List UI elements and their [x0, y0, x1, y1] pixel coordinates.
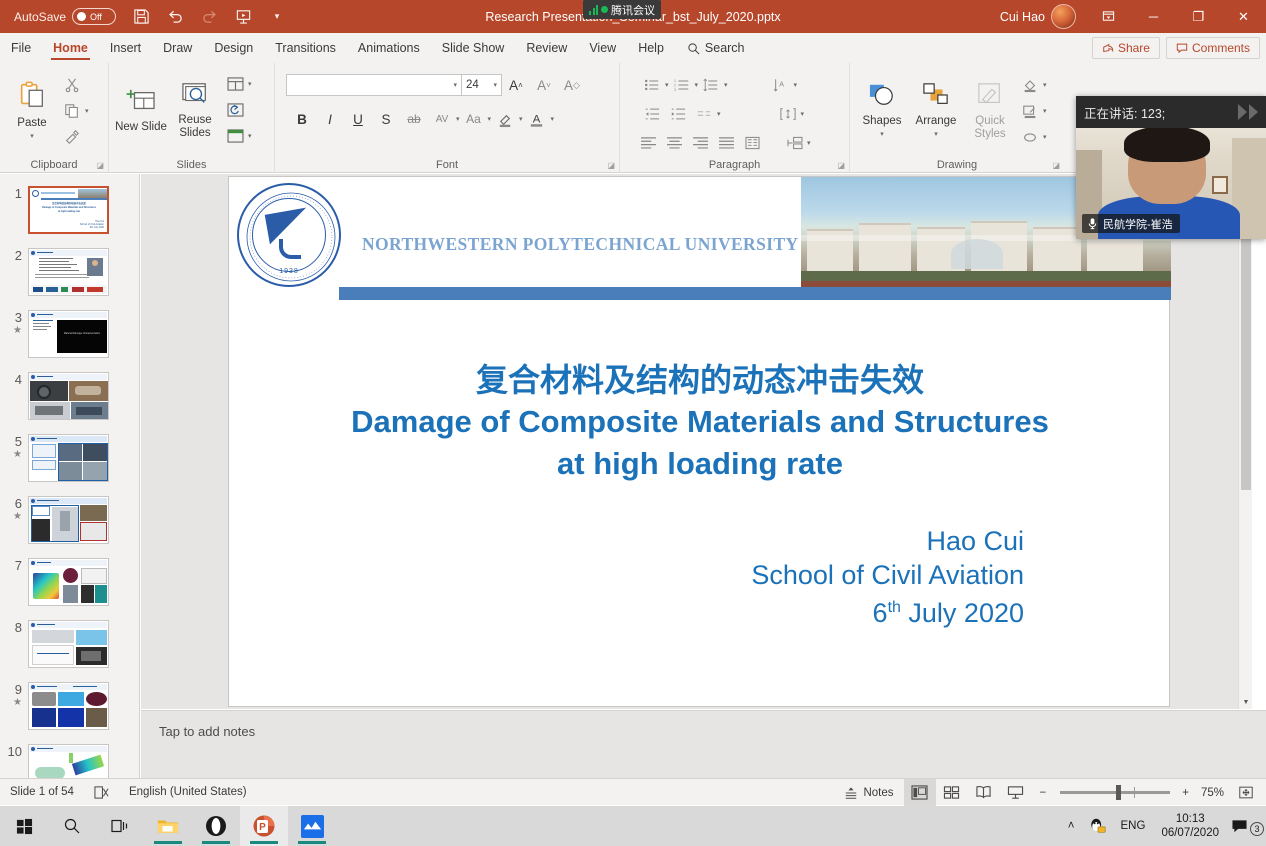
font-name-input[interactable]: ▾ — [286, 74, 462, 96]
notification-count: 3 — [1250, 822, 1264, 836]
accessibility-check-icon[interactable] — [84, 779, 119, 806]
comments-button[interactable]: Comments — [1166, 37, 1260, 59]
video-feed[interactable]: 民航学院-崔浩 — [1076, 128, 1266, 239]
thumbnail-image[interactable] — [28, 682, 109, 730]
slide-counter[interactable]: Slide 1 of 54 — [0, 779, 84, 806]
thumbnail-image[interactable] — [28, 248, 109, 296]
thumbnail-7[interactable]: 7 — [0, 558, 140, 606]
scroll-down-icon[interactable]: ▼ — [1239, 695, 1253, 709]
signal-bars-icon — [589, 5, 598, 15]
zoom-default-tick — [1134, 787, 1135, 798]
thumbnail-image[interactable] — [28, 372, 109, 420]
tab-slide-show[interactable]: Slide Show — [431, 33, 516, 63]
strikethrough-button[interactable]: ab — [400, 106, 428, 132]
copy-dropdown-icon[interactable]: ▾ — [85, 107, 89, 115]
tab-transitions[interactable]: Transitions — [264, 33, 347, 63]
text-box-fit-dropdown-icon[interactable]: ▾ — [801, 110, 805, 118]
svg-text:2: 2 — [674, 83, 676, 87]
tab-view[interactable]: View — [578, 33, 627, 63]
zoom-level[interactable]: 75% — [1195, 779, 1230, 806]
date-ordinal-suffix: th — [888, 599, 901, 616]
current-slide[interactable]: 1938 NORTHWESTERN POLYTECHNICAL UNIVERSI… — [228, 176, 1170, 707]
slide-canvas-area: 1938 NORTHWESTERN POLYTECHNICAL UNIVERSI… — [141, 174, 1252, 709]
reset-icon — [227, 103, 244, 117]
change-case-button[interactable]: Aa — [460, 106, 488, 132]
slides-group-label: Slides — [109, 159, 274, 171]
reuse-slides-icon — [180, 81, 210, 111]
line-spacing-button[interactable] — [698, 72, 724, 98]
text-fit-icon — [780, 107, 796, 121]
slide-author-block[interactable]: Hao Cui School of Civil Aviation 6th Jul… — [504, 527, 1024, 633]
paragraph-dialog-launcher-icon[interactable]: ◪ — [837, 161, 845, 170]
shape-fill-icon — [1022, 78, 1038, 93]
tencent-meeting-icon[interactable] — [288, 806, 336, 846]
slide-title-english-1: Damage of Composite Materials and Struct… — [269, 401, 1131, 443]
clipboard-dialog-launcher-icon[interactable]: ◪ — [96, 161, 104, 170]
powerpoint-window: AutoSave Off ▾ Research Presentation_Sem… — [0, 0, 1266, 846]
comments-label: Comments — [1192, 41, 1250, 55]
tab-insert[interactable]: Insert — [99, 33, 152, 63]
smartart-dropdown-icon[interactable]: ▾ — [807, 139, 811, 147]
thumbnail-number: 6 — [0, 496, 22, 511]
clock-date: 06/07/2020 — [1161, 826, 1219, 840]
text-box-fit-button[interactable] — [775, 101, 801, 127]
slide-header-band: 1938 NORTHWESTERN POLYTECHNICAL UNIVERSI… — [229, 177, 1171, 297]
arrange-label: Arrange — [916, 115, 957, 128]
slide-thumbnail-pane[interactable]: 1 复合材料及结构的动态冲击失效 Damage of Composite Mat… — [0, 174, 140, 778]
keyboard-language[interactable]: ENG — [1113, 813, 1154, 840]
windows-taskbar: P ˄ ENG 10:13 06/07/2020 3 — [0, 806, 1266, 846]
italic-button[interactable]: I — [316, 106, 344, 132]
thumbnail-number: 3 — [0, 310, 22, 325]
tab-review[interactable]: Review — [515, 33, 578, 63]
logo-year: 1938 — [239, 268, 339, 275]
ribbon-group-clipboard: Paste ▾ ▾ — [0, 63, 108, 173]
text-shadow-button[interactable]: S — [372, 106, 400, 132]
participant-hair — [1124, 128, 1210, 162]
share-group: Share Comments — [1092, 37, 1260, 59]
logo-hook-shape — [279, 239, 301, 259]
columns-button[interactable] — [739, 130, 765, 156]
align-center-icon — [666, 136, 683, 150]
font-size-value: 24 — [466, 79, 479, 91]
thumbnail-number: 2 — [0, 248, 22, 263]
shape-outline-button[interactable] — [1017, 98, 1043, 124]
animation-star-icon: ★ — [0, 449, 22, 460]
paste-icon — [17, 80, 47, 114]
font-color-button[interactable]: A — [523, 106, 551, 132]
ribbon-tab-strip: File Home Insert Draw Design Transitions… — [0, 33, 1266, 63]
format-painter-button[interactable] — [59, 124, 85, 150]
slide-title[interactable]: 复合材料及结构的动态冲击失效 Damage of Composite Mater… — [269, 359, 1131, 485]
author-affiliation: School of Civil Aviation — [504, 561, 1024, 590]
thumbnail-number: 10 — [0, 744, 22, 759]
fit-slide-icon — [1238, 785, 1254, 800]
shape-effects-dropdown-icon[interactable]: ▾ — [1043, 133, 1047, 141]
zoom-out-button[interactable]: − — [1032, 779, 1051, 806]
save-icon[interactable] — [124, 0, 158, 33]
drawing-dialog-launcher-icon[interactable]: ◪ — [1052, 161, 1060, 170]
close-button[interactable]: ✕ — [1221, 0, 1266, 33]
text-direction-dropdown-icon[interactable]: ▾ — [794, 81, 798, 89]
thumbnail-number: 4 — [0, 372, 22, 387]
bullets-icon — [644, 78, 660, 92]
increase-font-size-button[interactable]: A˄ — [502, 72, 530, 98]
cut-button[interactable] — [59, 72, 85, 98]
align-left-icon — [640, 136, 657, 150]
copy-icon — [64, 103, 80, 119]
increase-indent-icon — [670, 107, 686, 121]
powerpoint-icon[interactable]: P — [240, 806, 288, 846]
status-dot-icon — [601, 6, 608, 13]
wall-picture-frame — [1212, 176, 1228, 194]
text-direction-button[interactable]: A — [768, 72, 794, 98]
layout-icon — [227, 77, 244, 91]
microphone-icon — [1086, 217, 1099, 230]
logo-emblem — [252, 198, 326, 272]
decrease-indent-button[interactable] — [639, 101, 665, 127]
share-label: Share — [1118, 41, 1150, 55]
reset-button[interactable] — [222, 97, 248, 123]
svg-text:A: A — [533, 113, 541, 125]
shape-outline-dropdown-icon[interactable]: ▾ — [1043, 107, 1047, 115]
thumbnail-number: 1 — [0, 186, 22, 201]
search-label: Search — [705, 41, 745, 55]
reuse-slides-button[interactable]: Reuse Slides — [168, 75, 222, 140]
tencent-meeting-label: 腾讯会议 — [611, 2, 655, 18]
autosave-state: Off — [90, 12, 102, 22]
slide-show-icon — [1007, 785, 1024, 800]
start-presentation-icon[interactable] — [226, 0, 260, 33]
text-direction-icon: A — [773, 78, 789, 92]
autosave-label: AutoSave — [14, 10, 66, 24]
increase-indent-button[interactable] — [665, 101, 691, 127]
align-text-dropdown-icon[interactable]: ▾ — [717, 110, 721, 118]
speaking-status: 正在讲话: 123; — [1084, 103, 1165, 122]
animation-star-icon: ★ — [0, 511, 22, 522]
new-slide-icon — [126, 88, 156, 118]
thumbnail-4[interactable]: 4 — [0, 372, 140, 420]
system-tray: ˄ ENG 10:13 06/07/2020 3 — [1060, 806, 1266, 846]
search-box[interactable]: Search — [675, 41, 745, 55]
svg-text:P: P — [259, 822, 266, 833]
layout-dropdown-icon[interactable]: ▾ — [248, 80, 252, 88]
reading-view-button[interactable] — [968, 779, 1000, 806]
paragraph-group-label: Paragraph — [620, 159, 849, 171]
tencent-meeting-logo-icon — [1238, 104, 1258, 120]
tray-expand-icon[interactable]: ˄ — [1060, 813, 1083, 840]
date-day: 6 — [873, 598, 888, 628]
notes-button[interactable]: Notes — [834, 779, 903, 806]
thumbnail-image[interactable]: 复合材料及结构的动态冲击失效 Damage of Composite Mater… — [28, 186, 109, 234]
convert-to-smartart-button[interactable] — [781, 130, 807, 156]
thumbnail-9[interactable]: 9 ★ — [0, 682, 140, 730]
fit-slide-to-window-button[interactable] — [1230, 779, 1262, 806]
clear-formatting-glyph: A — [564, 78, 573, 93]
ribbon-group-slides: New Slide Reuse Slides ▾ — [108, 63, 274, 173]
reuse-slides-label: Reuse Slides — [168, 114, 222, 140]
zoom-slider-handle[interactable] — [1116, 785, 1121, 800]
clipboard-group-label: Clipboard — [0, 159, 108, 171]
tab-home[interactable]: Home — [42, 33, 99, 63]
participant-name-badge: 民航学院-崔浩 — [1082, 214, 1180, 233]
canvas-vertical-scrollbar[interactable]: ▲ ▼ — [1238, 174, 1252, 709]
animation-star-icon: ★ — [0, 697, 22, 708]
qq-tray-icon[interactable] — [1083, 813, 1113, 840]
tencent-meeting-badge[interactable]: 腾讯会议 — [583, 0, 661, 19]
clear-formatting-button[interactable]: A◇ — [558, 72, 586, 98]
thumbnail-image[interactable] — [28, 434, 109, 482]
thumbnail-5[interactable]: 5 ★ — [0, 434, 140, 482]
participant-name: 民航学院-崔浩 — [1103, 216, 1173, 232]
shape-fill-dropdown-icon[interactable]: ▾ — [1043, 81, 1047, 89]
columns-icon — [744, 136, 761, 150]
notification-icon — [1231, 819, 1248, 834]
smartart-icon — [786, 136, 803, 150]
shape-fill-button[interactable] — [1017, 72, 1043, 98]
line-spacing-dropdown-icon[interactable]: ▾ — [724, 81, 728, 89]
minimize-button[interactable]: ─ — [1131, 0, 1176, 33]
thumbnail-number: 9 — [0, 682, 22, 697]
section-dropdown-icon[interactable]: ▾ — [248, 132, 252, 140]
shapes-button[interactable]: Shapes ▾ — [855, 76, 909, 141]
notes-icon — [844, 786, 858, 800]
zoom-in-button[interactable]: + — [1180, 779, 1195, 806]
decrease-font-size-button[interactable]: A˅ — [530, 72, 558, 98]
thumbnail-8[interactable]: 8 — [0, 620, 140, 668]
tencent-meeting-video-overlay[interactable]: 正在讲话: 123; 民航学院-崔浩 — [1076, 96, 1266, 239]
header-accent-bar — [339, 287, 1171, 300]
font-name-dropdown-icon[interactable]: ▾ — [453, 81, 457, 89]
status-bar-right: Notes − + 75% — [834, 779, 1266, 806]
tab-animations[interactable]: Animations — [347, 33, 431, 63]
underline-button[interactable]: U — [344, 106, 372, 132]
thumbnail-image[interactable]: Material Damage Characterization — [28, 310, 109, 358]
university-logo: 1938 — [237, 183, 341, 287]
reading-view-icon — [975, 785, 992, 800]
bullets-button[interactable] — [639, 72, 665, 98]
search-icon[interactable] — [48, 806, 96, 846]
character-spacing-glyph: AV — [436, 114, 449, 125]
redo-icon[interactable] — [192, 0, 226, 33]
thumbnail-image[interactable] — [28, 558, 109, 606]
section-button[interactable] — [222, 123, 248, 149]
share-button[interactable]: Share — [1092, 37, 1160, 59]
user-name[interactable]: Cui Hao — [1000, 10, 1045, 24]
notes-pane[interactable]: Tap to add notes — [141, 710, 1266, 778]
file-explorer-icon[interactable] — [144, 806, 192, 846]
ribbon-group-paragraph: ▾ 123 ▾ ▾ A ▾ — [619, 63, 849, 173]
notification-center-button[interactable]: 3 — [1227, 813, 1266, 840]
thumbnail-3[interactable]: 3 ★ Material Damage Characterization — [0, 310, 140, 358]
new-slide-button[interactable]: New Slide — [114, 82, 168, 134]
autosave-toggle[interactable]: Off — [72, 8, 116, 25]
font-size-dropdown-icon[interactable]: ▾ — [493, 81, 497, 89]
university-name: NORTHWESTERN POLYTECHNICAL UNIVERSITY — [362, 234, 799, 255]
align-text-icon — [696, 107, 712, 121]
ribbon-group-font: ▾ 24 ▾ A˄ A˅ A◇ B I U S — [274, 63, 619, 173]
arrange-icon — [921, 82, 951, 112]
shape-outline-icon — [1022, 104, 1038, 119]
cut-icon — [64, 77, 80, 93]
svg-text:1: 1 — [674, 79, 676, 83]
title-bar: AutoSave Off ▾ Research Presentation_Sem… — [0, 0, 1266, 33]
shapes-label: Shapes — [862, 115, 901, 128]
shapes-dropdown-icon[interactable]: ▾ — [880, 128, 884, 141]
thumbnail-image[interactable] — [28, 620, 109, 668]
font-dialog-launcher-icon[interactable]: ◪ — [607, 161, 615, 170]
author-name: Hao Cui — [504, 527, 1024, 556]
search-icon — [687, 42, 700, 55]
align-text-button[interactable] — [691, 101, 717, 127]
slide-sorter-button[interactable] — [936, 779, 968, 806]
shapes-icon — [867, 82, 897, 112]
tab-help[interactable]: Help — [627, 33, 675, 63]
notes-placeholder: Tap to add notes — [159, 724, 255, 739]
align-right-button[interactable] — [687, 130, 713, 156]
comment-icon — [1176, 42, 1188, 54]
font-color-icon: A — [528, 111, 545, 128]
avatar[interactable] — [1051, 4, 1076, 29]
video-overlay-header: 正在讲话: 123; — [1076, 96, 1266, 128]
numbering-button[interactable]: 123 — [669, 72, 695, 98]
shape-effects-button[interactable] — [1017, 124, 1043, 150]
start-icon[interactable] — [0, 806, 48, 846]
svg-text:3: 3 — [674, 88, 676, 92]
quick-styles-icon — [975, 82, 1005, 112]
decrease-indent-icon — [644, 107, 660, 121]
arrange-button[interactable]: Arrange ▾ — [909, 76, 963, 141]
slide-title-chinese: 复合材料及结构的动态冲击失效 — [269, 359, 1131, 401]
thumbnail-image[interactable] — [28, 496, 109, 544]
thumbnail-image[interactable] — [28, 744, 109, 778]
character-spacing-button[interactable]: AV — [428, 106, 456, 132]
copy-button[interactable] — [59, 98, 85, 124]
quick-styles-label: Quick Styles — [963, 115, 1017, 141]
slide-sorter-icon — [943, 785, 960, 800]
text-highlight-color-button[interactable] — [491, 106, 519, 132]
status-bar: Slide 1 of 54 English (United States) No… — [0, 778, 1266, 805]
arrange-dropdown-icon[interactable]: ▾ — [934, 128, 938, 141]
align-right-icon — [692, 136, 709, 150]
font-size-input[interactable]: 24 ▾ — [462, 74, 502, 96]
new-slide-label: New Slide — [115, 121, 167, 134]
opera-icon[interactable] — [192, 806, 240, 846]
shape-effects-icon — [1022, 130, 1038, 145]
shrink-font-glyph: A — [537, 78, 546, 93]
paste-dropdown-icon[interactable]: ▾ — [30, 130, 34, 143]
task-view-icon[interactable] — [96, 806, 144, 846]
thumbnail-number: 7 — [0, 558, 22, 573]
numbering-icon: 123 — [674, 78, 690, 92]
thumbnail-1[interactable]: 1 复合材料及结构的动态冲击失效 Damage of Composite Mat… — [0, 186, 140, 234]
zoom-slider[interactable] — [1060, 791, 1170, 794]
tab-design[interactable]: Design — [203, 33, 264, 63]
presentation-date: 6th July 2020 — [504, 594, 1024, 628]
align-left-button[interactable] — [635, 130, 661, 156]
share-icon — [1102, 42, 1114, 54]
font-color-dropdown-icon[interactable]: ▾ — [551, 115, 555, 123]
clock-time: 10:13 — [1161, 812, 1219, 826]
layout-button[interactable] — [222, 71, 248, 97]
maximize-button[interactable]: ❐ — [1176, 0, 1221, 33]
svg-text:A: A — [779, 80, 784, 88]
paste-button[interactable]: Paste ▾ — [5, 74, 59, 143]
align-center-button[interactable] — [661, 130, 687, 156]
slide-show-button[interactable] — [1000, 779, 1032, 806]
normal-view-button[interactable] — [904, 779, 936, 806]
font-group-label: Font — [275, 159, 619, 171]
justify-button[interactable] — [713, 130, 739, 156]
justify-icon — [718, 136, 735, 150]
tab-file[interactable]: File — [0, 33, 42, 63]
drawing-group-label: Drawing — [850, 159, 1064, 171]
customize-quick-access-icon[interactable]: ▾ — [260, 0, 294, 33]
paste-label: Paste — [17, 117, 46, 130]
autosave-knob — [77, 12, 86, 21]
ribbon-group-drawing: Shapes ▾ Arrange ▾ Quick Styles — [849, 63, 1064, 173]
title-bar-right: Cui Hao ─ ❐ ✕ — [1000, 0, 1266, 33]
thumbnail-2[interactable]: 2 — [0, 248, 140, 296]
quick-styles-button[interactable]: Quick Styles — [963, 76, 1017, 141]
autosave-control[interactable]: AutoSave Off — [14, 8, 116, 25]
clock[interactable]: 10:13 06/07/2020 — [1153, 812, 1227, 840]
slide-title-english-2: at high loading rate — [269, 443, 1131, 485]
format-painter-icon — [64, 129, 80, 145]
undo-icon[interactable] — [158, 0, 192, 33]
line-spacing-icon — [703, 78, 719, 92]
date-rest: July 2020 — [901, 598, 1024, 628]
ribbon-display-options-icon[interactable] — [1086, 0, 1131, 33]
section-icon — [227, 129, 244, 143]
thumbnail-number: 8 — [0, 620, 22, 635]
language-indicator[interactable]: English (United States) — [119, 779, 257, 806]
bold-button[interactable]: B — [288, 106, 316, 132]
normal-view-icon — [911, 785, 928, 800]
thumbnail-6[interactable]: 6 ★ — [0, 496, 140, 544]
animation-star-icon: ★ — [0, 325, 22, 336]
tab-draw[interactable]: Draw — [152, 33, 203, 63]
thumbnail-number: 5 — [0, 434, 22, 449]
notes-label: Notes — [863, 787, 893, 799]
grow-font-glyph: A — [509, 78, 518, 93]
thumbnail-10[interactable]: 10 — [0, 744, 140, 778]
highlighter-icon — [497, 111, 514, 128]
